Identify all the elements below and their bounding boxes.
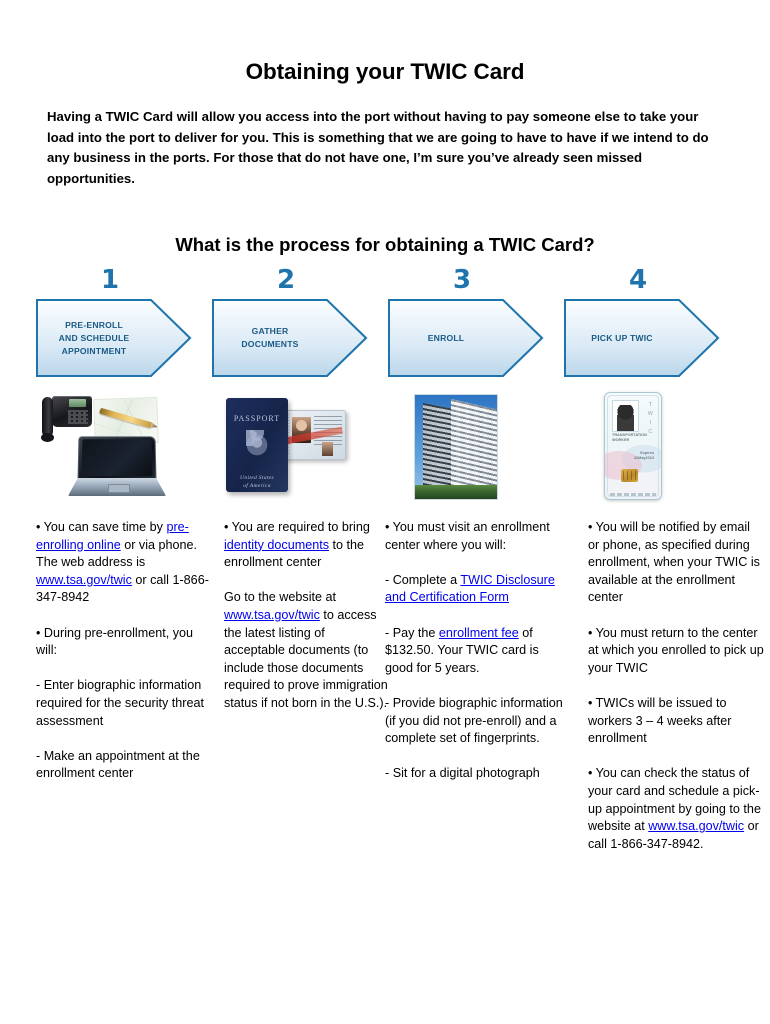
laptop-lid	[77, 436, 156, 480]
dash-paragraph: - Make an appointment at the enrollment …	[36, 748, 212, 783]
passport-drivers-license-image: PASSPORT United States of America	[212, 392, 372, 504]
chevron-label-4: PICK UP TWIC	[566, 299, 678, 377]
bullet-paragraph: • During pre-enrollment, you will:	[36, 625, 212, 660]
process-step-2: 2 GATHER DOCUMENTS	[212, 266, 388, 516]
chevron-label-3: ENROLL	[390, 299, 502, 377]
passport-title: PASSPORT	[226, 414, 288, 423]
passport-icon: PASSPORT United States of America	[226, 398, 288, 492]
document-page: Obtaining your TWIC Card Having a TWIC C…	[0, 0, 770, 1024]
hyperlink[interactable]: www.tsa.gov/twic	[36, 573, 132, 587]
dash-paragraph: - Provide biographic information (if you…	[385, 695, 565, 748]
text-run: - Complete a	[385, 573, 460, 587]
step-number: 1	[36, 266, 184, 294]
text-run: - Sit for a digital photograph	[385, 766, 540, 780]
twic-card-expiry: Expires 22May2013	[634, 451, 654, 461]
twic-letter: C	[648, 428, 653, 437]
phone-body	[52, 396, 92, 427]
laptop-screen	[82, 439, 153, 476]
text-run: - Provide biographic information (if you…	[385, 696, 563, 745]
phone-keypad	[68, 410, 88, 424]
hyperlink[interactable]: www.tsa.gov/twic	[648, 819, 744, 833]
passport-subtitle-line1: United States	[226, 474, 288, 482]
text-run: - Pay the	[385, 626, 439, 640]
text-run: • You will be notified by email or phone…	[588, 520, 760, 604]
bullet-paragraph: • You will be notified by email or phone…	[588, 519, 764, 607]
bullet-paragraph: • You must return to the center at which…	[588, 625, 764, 678]
chevron-shape-2: GATHER DOCUMENTS	[212, 299, 368, 377]
twic-card-worker-label: TRANSPORTATION WORKER	[612, 433, 647, 443]
chevron-label-line: APPOINTMENT	[62, 345, 127, 358]
pen-icon	[99, 408, 153, 429]
text-run: to access the latest listing of acceptab…	[224, 608, 388, 710]
twic-card-letters: T W I C	[648, 401, 653, 437]
chevron-label-1: PRE-ENROLL AND SCHEDULE APPOINTMENT	[38, 299, 150, 377]
dash-paragraph: - Pay the enrollment fee of $132.50. You…	[385, 625, 565, 678]
process-step-1: 1 PRE-ENROLL AND SCHEDULE APPOINTMENT	[36, 266, 212, 516]
passport-seal	[242, 430, 272, 460]
text-run: - Enter biographic information required …	[36, 678, 204, 727]
twic-card: T W I C TRANSPORTATION WORKER Expires 22…	[604, 392, 662, 500]
bullet-paragraph: • You are required to bring identity doc…	[224, 519, 388, 572]
dash-paragraph: - Complete a TWIC Disclosure and Certifi…	[385, 572, 565, 607]
text-run: - Make an appointment at the enrollment …	[36, 749, 200, 781]
process-step-4: 4 PICK UP TWIC T W I	[564, 266, 740, 516]
bullet-paragraph: • TWICs will be issued to workers 3 – 4 …	[588, 695, 764, 748]
twic-letter: W	[648, 410, 653, 419]
text-run: • You must return to the center at which…	[588, 626, 764, 675]
text-run: • You must visit an enrollment center wh…	[385, 520, 550, 552]
step-number: 2	[212, 266, 360, 294]
chevron-label-line: AND SCHEDULE	[59, 332, 130, 345]
twic-card-image: T W I C TRANSPORTATION WORKER Expires 22…	[564, 392, 724, 504]
text-run: • TWICs will be issued to workers 3 – 4 …	[588, 696, 732, 745]
chevron-label-line: PRE-ENROLL	[65, 319, 123, 332]
twic-expires-value: 22May2013	[634, 456, 654, 461]
bullet-paragraph: • You can check the status of your card …	[588, 765, 764, 853]
laptop-icon	[68, 436, 166, 498]
dash-paragraph: - Enter biographic information required …	[36, 677, 212, 730]
chevron-shape-3: ENROLL	[388, 299, 544, 377]
building-foliage	[415, 485, 497, 499]
building-photo	[414, 394, 498, 500]
phone-handset	[42, 397, 53, 437]
process-step-3: 3 ENROLL	[388, 266, 564, 516]
body-paragraph: Go to the website at www.tsa.gov/twic to…	[224, 589, 388, 712]
text-run: Go to the website at	[224, 590, 336, 604]
hyperlink[interactable]: www.tsa.gov/twic	[224, 608, 320, 622]
twic-letter: T	[648, 401, 653, 410]
section-title: What is the process for obtaining a TWIC…	[0, 234, 770, 256]
twic-card-footer-text	[610, 493, 656, 496]
laptop-trackpad	[108, 484, 130, 493]
text-column-3: • You must visit an enrollment center wh…	[385, 519, 565, 783]
text-column-4: • You will be notified by email or phone…	[588, 519, 764, 853]
chevron-label-line: ENROLL	[428, 332, 465, 345]
intro-paragraph: Having a TWIC Card will allow you access…	[47, 107, 725, 189]
twic-card-chip	[621, 469, 638, 482]
twic-worker-line2: WORKER	[612, 438, 647, 443]
bullet-paragraph: • You can save time by pre-enrolling onl…	[36, 519, 212, 607]
chevron-label-2: GATHER DOCUMENTS	[214, 299, 326, 377]
text-column-1: • You can save time by pre-enrolling onl…	[36, 519, 212, 783]
text-run: • During pre-enrollment, you will:	[36, 626, 193, 658]
text-run: • You can save time by	[36, 520, 166, 534]
chevron-label-line: GATHER	[252, 325, 289, 338]
phone-laptop-notepad-image	[36, 392, 196, 504]
step-number: 4	[564, 266, 712, 294]
dash-paragraph: - Sit for a digital photograph	[385, 765, 565, 783]
bullet-paragraph: • You must visit an enrollment center wh…	[385, 519, 565, 554]
desk-phone-icon	[42, 396, 92, 438]
twic-letter: I	[648, 419, 653, 428]
chevron-label-line: PICK UP TWIC	[591, 332, 652, 345]
office-building-image	[388, 392, 548, 504]
text-column-2: • You are required to bring identity doc…	[224, 519, 388, 713]
phone-screen	[69, 399, 86, 407]
text-run: • You are required to bring	[224, 520, 370, 534]
process-diagram: 1 PRE-ENROLL AND SCHEDULE APPOINTMENT	[0, 266, 770, 516]
license-thumbnail-photo	[322, 442, 333, 456]
chevron-label-line: DOCUMENTS	[241, 338, 298, 351]
hyperlink[interactable]: identity documents	[224, 538, 329, 552]
twic-card-photo	[612, 400, 639, 432]
step-number: 3	[388, 266, 536, 294]
hyperlink[interactable]: enrollment fee	[439, 626, 519, 640]
chevron-shape-1: PRE-ENROLL AND SCHEDULE APPOINTMENT	[36, 299, 192, 377]
passport-subtitle: United States of America	[226, 474, 288, 490]
chevron-shape-4: PICK UP TWIC	[564, 299, 720, 377]
page-title: Obtaining your TWIC Card	[0, 59, 770, 85]
passport-subtitle-line2: of America	[226, 482, 288, 490]
